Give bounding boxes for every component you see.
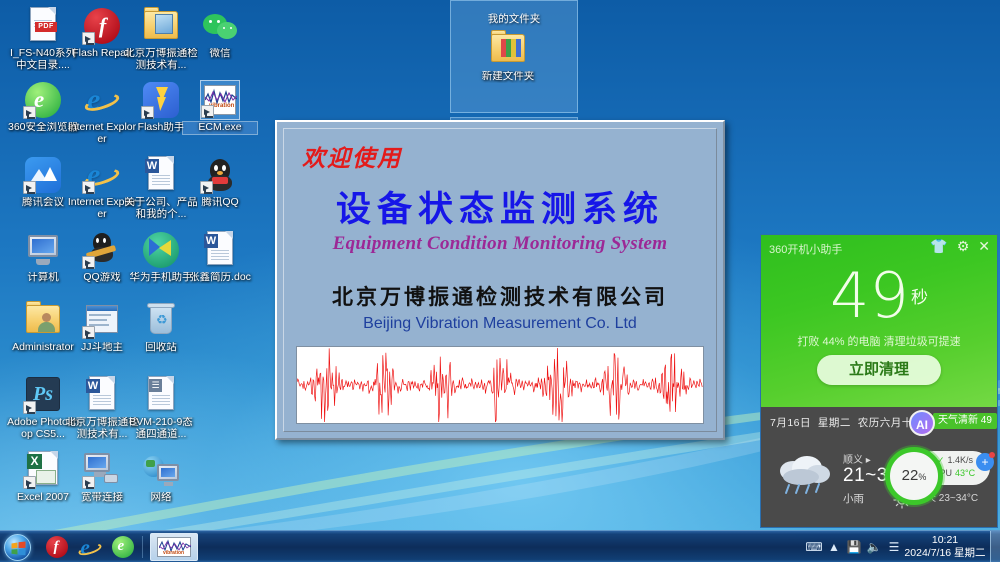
boot-seconds-value: 49秒 (761, 265, 997, 329)
desktop-icon-label: 网络 (124, 492, 198, 504)
taskbar-window-label: vibration (163, 550, 184, 556)
taskbar-window-ecm[interactable]: vibration (150, 533, 198, 561)
ecm-app-icon: vibration (200, 80, 240, 120)
splash-title-en: Equipment Condition Monitoring System (284, 233, 716, 255)
flash-icon: f (82, 6, 122, 46)
desktop-icon-label: BVM-210-9态通四通道... (124, 417, 198, 440)
desktop-icon-label: 腾讯QQ (183, 197, 257, 209)
keyboard-icon[interactable]: ⌨ (804, 533, 824, 561)
desktop-icon-label: ECM.exe (183, 122, 257, 134)
taskbar-separator (142, 536, 143, 558)
vibration-waveform-plot (296, 346, 704, 424)
folder-icon (488, 29, 528, 69)
taskbar-clock[interactable]: 10:21 2024/7/16 星期二 (904, 534, 986, 560)
word-document-icon: W (82, 375, 122, 415)
word-document-icon: W (141, 155, 181, 195)
widget-top-panel: 360开机小助手 👕 ⚙ ✕ 49秒 打败 44% 的电脑 清理垃圾可提速 立即… (761, 235, 997, 407)
wechat-icon (200, 6, 240, 46)
desktop-icon-label: 张鑫简历.doc (183, 272, 257, 284)
360-boot-assistant-widget[interactable]: 360开机小助手 👕 ⚙ ✕ 49秒 打败 44% 的电脑 清理垃圾可提速 立即… (760, 234, 998, 528)
desktop-icon-label: 回收站 (124, 342, 198, 354)
splash-company-en: Beijing Vibration Measurement Co. Ltd (284, 315, 716, 333)
taskbar-360-browser-button[interactable]: e (107, 533, 138, 561)
excel-icon: X (23, 450, 63, 490)
splash-title-cn: 设备状态监测系统 (284, 181, 716, 232)
weather-weekday: 星期二 (818, 417, 851, 429)
ecm-splash-window[interactable]: 欢迎使用 设备状态监测系统 Equipment Condition Monito… (275, 120, 725, 440)
taskbar-flash-button[interactable]: f (41, 533, 72, 561)
qq-game-icon (82, 230, 122, 270)
ie-icon: e (82, 155, 122, 195)
windows-logo-icon (4, 534, 31, 561)
show-desktop-button[interactable] (990, 531, 1000, 562)
desktop-icon-label: 微信 (183, 48, 257, 60)
widget-title: 360开机小助手 (769, 241, 842, 257)
folder-panel-item-label: 新建文件夹 (471, 71, 545, 83)
desktop-icon-recycle-bin[interactable]: ♻ 回收站 (124, 300, 198, 354)
rain-cloud-icon (773, 451, 835, 497)
clock-date: 2024/7/16 星期二 (904, 547, 986, 560)
tencent-meeting-icon (23, 155, 63, 195)
window-app-icon (82, 300, 122, 340)
computer-icon (23, 230, 63, 270)
photoshop-icon: Ps (23, 375, 63, 415)
show-hidden-icons-arrow[interactable]: ▲ (824, 533, 844, 561)
browser360-icon: e (23, 80, 63, 120)
cpu-usage-unit: % (918, 472, 926, 482)
recycle-bin-icon: ♻ (141, 300, 181, 340)
boot-seconds-unit: 秒 (911, 288, 928, 308)
gear-icon[interactable]: ⚙ (957, 239, 970, 253)
splash-inner-frame: 欢迎使用 设备状态监测系统 Equipment Condition Monito… (283, 128, 717, 432)
user-folder-icon (23, 300, 63, 340)
ie-icon: e (82, 80, 122, 120)
clean-now-button[interactable]: 立即清理 (817, 355, 941, 385)
document-icon: ☰ (141, 375, 181, 415)
desktop-icon-ecm-exe[interactable]: vibration ECM.exe (183, 80, 257, 134)
volume-icon[interactable]: 🔈 (864, 533, 884, 561)
weather-location: 顺义 ▸ (843, 451, 871, 466)
desktop-icon-resume-doc[interactable]: W 张鑫简历.doc (183, 230, 257, 284)
desktop-icon-wechat[interactable]: 微信 (183, 6, 257, 60)
folder-panel-title: 我的文件夹 (451, 11, 577, 26)
waveform-svg (297, 347, 703, 423)
clock-time: 10:21 (904, 534, 986, 547)
shirt-icon[interactable]: 👕 (930, 239, 947, 253)
boot-comparison-text: 打败 44% 的电脑 清理垃圾可提速 (761, 333, 997, 349)
selected-folder-panel[interactable]: 我的文件夹 新建文件夹 (450, 0, 578, 113)
taskbar[interactable]: f e e vibration (0, 530, 1000, 562)
widget-weather-panel: 7月16日 星期二 农历六月十一 天气清新 49 AI 顺义 ▸ 21~3 (761, 407, 997, 528)
start-button[interactable] (1, 532, 39, 562)
broadband-connection-icon (82, 450, 122, 490)
network-icon[interactable]: ☰ (884, 533, 904, 561)
cpu-temp-value: 43°C (955, 467, 975, 480)
word-document-icon: W (200, 230, 240, 270)
close-icon[interactable]: ✕ (978, 239, 990, 253)
folder-panel-item-new-folder[interactable]: 新建文件夹 (471, 29, 545, 83)
add-widget-button[interactable]: + (976, 453, 994, 471)
cpu-usage-ring: 22% (885, 447, 943, 505)
huawei-hisuite-icon (141, 230, 181, 270)
air-quality-badge: 天气清新 49 (933, 413, 997, 429)
taskbar-ie-button[interactable]: e (74, 533, 105, 561)
flash-helper-icon (141, 80, 181, 120)
desktop-icon-bvm-doc[interactable]: ☰ BVM-210-9态通四通道... (124, 375, 198, 440)
network-icon (141, 450, 181, 490)
pdf-icon: PDF (23, 6, 63, 46)
qq-penguin-icon (200, 155, 240, 195)
weather-date: 7月16日 (770, 417, 811, 429)
ai-badge[interactable]: AI (909, 410, 935, 436)
system-tray[interactable]: ⌨ ▲ 💾 🔈 ☰ 10:21 2024/7/16 星期二 (804, 531, 1000, 562)
welcome-text: 欢迎使用 (302, 139, 402, 173)
desktop-icon-tencent-qq[interactable]: 腾讯QQ (183, 155, 257, 209)
desktop-background[interactable]: PDF I_FS-N40系列中文目录.... f Flash Repair 北京… (0, 0, 1000, 562)
folder-icon (141, 6, 181, 46)
boot-seconds-number: 49 (830, 259, 909, 332)
desktop-icon-network[interactable]: 网络 (124, 450, 198, 504)
weather-dateline: 7月16日 星期二 农历六月十一 (770, 415, 924, 430)
network-speed-value: 1.4K/s (948, 454, 974, 467)
cpu-usage-value: 22 (902, 467, 919, 484)
widget-title-buttons: 👕 ⚙ ✕ (930, 239, 990, 253)
weather-condition: 小雨 (843, 491, 864, 506)
safely-remove-icon[interactable]: 💾 (844, 533, 864, 561)
splash-company-cn: 北京万博振通检测技术有限公司 (284, 281, 716, 311)
